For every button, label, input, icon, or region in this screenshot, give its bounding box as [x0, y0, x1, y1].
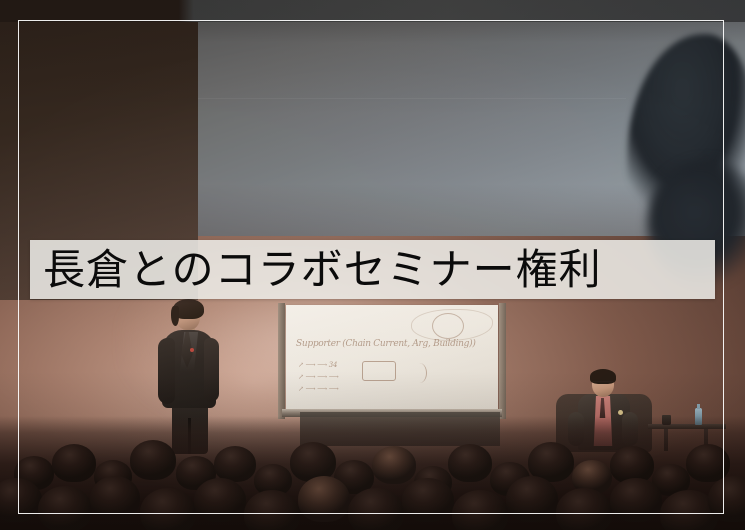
- audience-head: [52, 444, 96, 482]
- audience-head: [686, 444, 730, 482]
- standing-speaker-right-arm: [204, 338, 219, 402]
- audience-head: [140, 488, 196, 530]
- audience-head: [130, 440, 176, 480]
- whiteboard-post-left: [278, 303, 285, 419]
- audience-crowd: [0, 416, 745, 530]
- audience-head: [298, 476, 350, 522]
- audience-head: [506, 476, 558, 522]
- standing-speaker-left-arm: [158, 338, 175, 404]
- whiteboard-note-line-2: ↗ ⟶ ⟶ 34: [298, 361, 337, 369]
- audience-head: [90, 476, 140, 520]
- whiteboard-squiggle: [412, 363, 427, 383]
- audience-head: [448, 444, 492, 482]
- audience-head: [452, 490, 508, 530]
- projection-screen-seam: [196, 98, 626, 99]
- audience-head: [244, 490, 300, 530]
- whiteboard-note-line-4: ↗ ⟶ ⟶ ⟶: [298, 385, 339, 393]
- audience-head: [708, 476, 745, 522]
- whiteboard: Supporter (Chain Current, Arg, Building)…: [286, 305, 498, 409]
- audience-head: [556, 488, 612, 530]
- audience-head: [214, 446, 256, 482]
- ceiling-band: [0, 0, 745, 22]
- whiteboard-boxed-note: [362, 361, 396, 381]
- seminar-banner: Supporter (Chain Current, Arg, Building)…: [0, 0, 745, 530]
- title-band: 長倉とのコラボセミナー権利: [30, 240, 715, 299]
- whiteboard-note-line-3: ↗ ⟶ ⟶ ⟶: [298, 373, 339, 381]
- page-title: 長倉とのコラボセミナー権利: [30, 249, 602, 291]
- standing-speaker-hair-side: [171, 306, 179, 326]
- whiteboard-note-line-1: Supporter (Chain Current, Arg, Building)…: [296, 339, 476, 349]
- whiteboard-doodle-circle: [432, 313, 464, 339]
- audience-head: [610, 478, 662, 522]
- audience-head: [402, 478, 454, 522]
- seated-speaker-badge: [618, 410, 623, 415]
- audience-head: [348, 488, 404, 530]
- standing-speaker-lapel-pin: [190, 348, 194, 352]
- audience-head: [38, 486, 92, 530]
- audience-head: [372, 446, 416, 484]
- seated-speaker-glasses: [593, 381, 613, 387]
- whiteboard-post-right: [499, 303, 506, 419]
- audience-head: [194, 478, 246, 522]
